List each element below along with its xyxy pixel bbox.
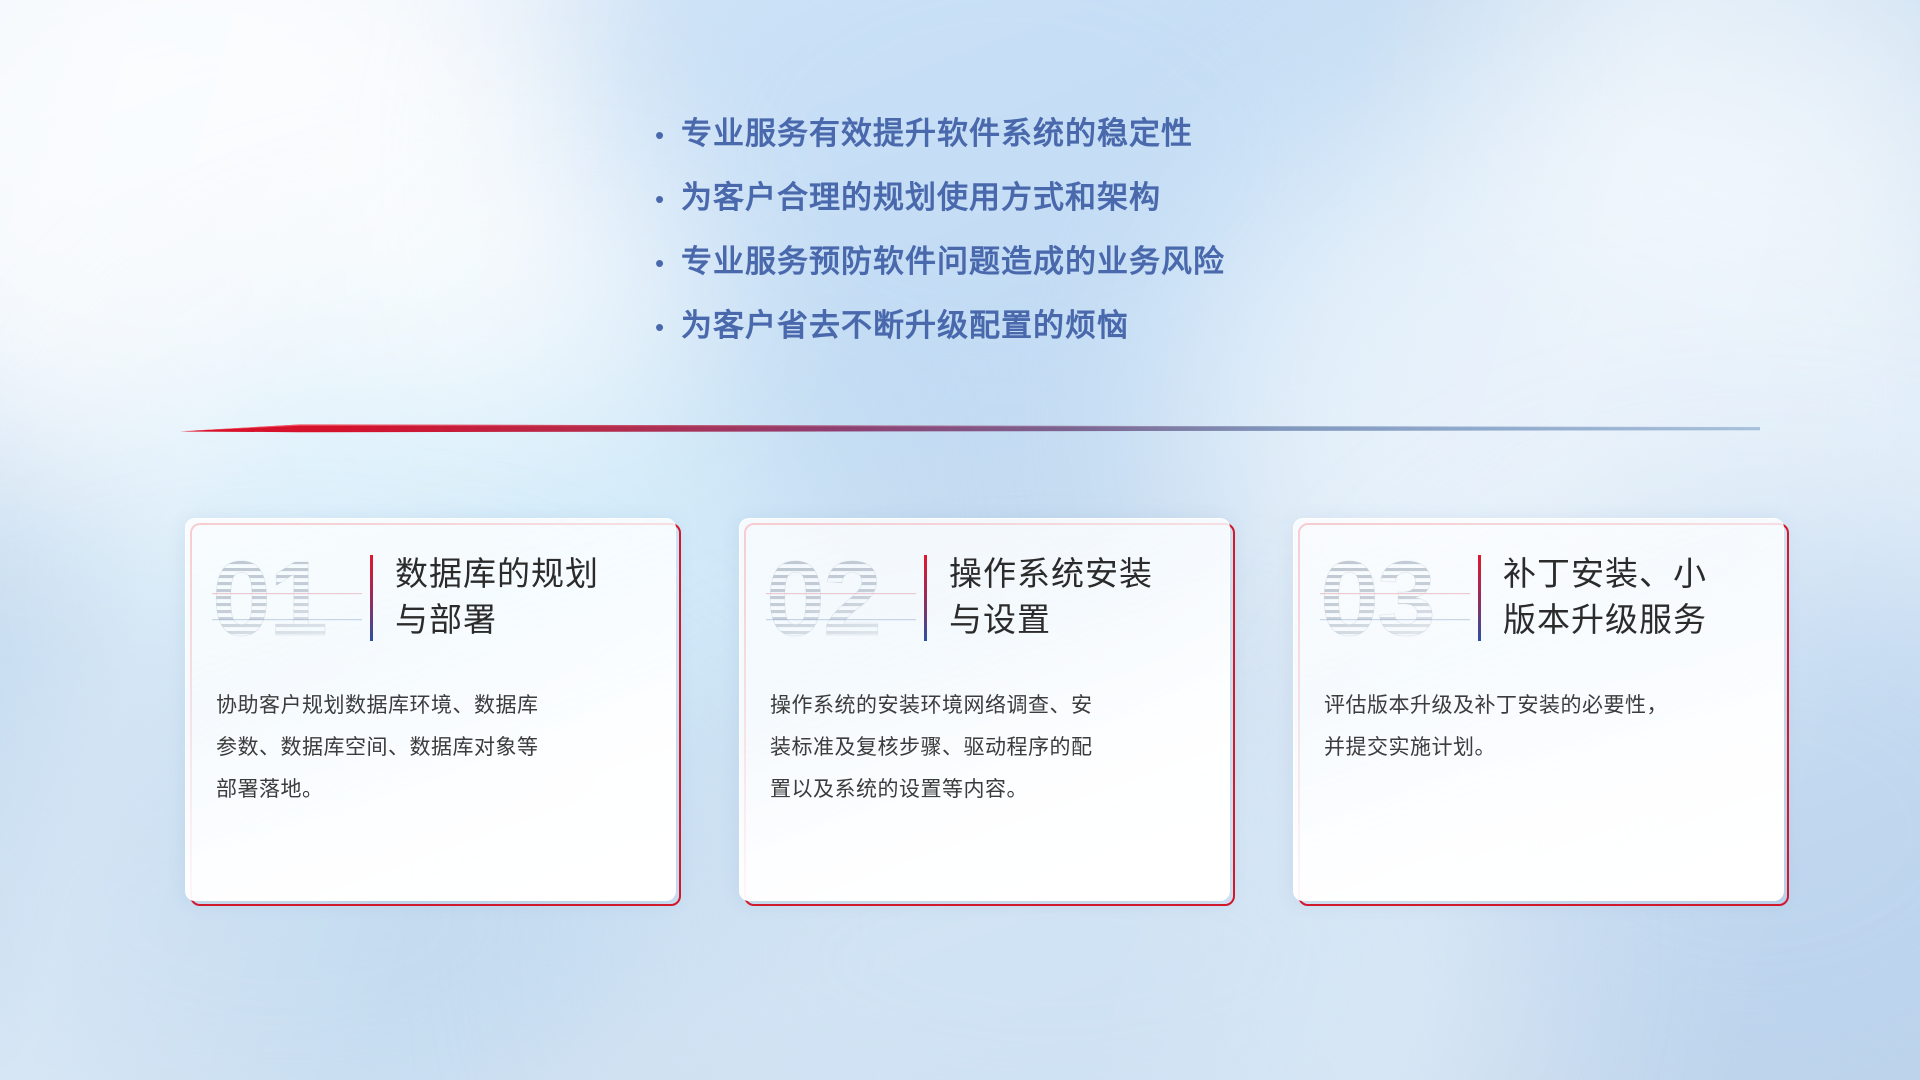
bullet-text: 专业服务预防软件问题造成的业务风险: [681, 236, 1225, 281]
list-item: • 为客户省去不断升级配置的烦恼: [655, 300, 1555, 364]
card-title: 操作系统安装 与设置: [949, 551, 1153, 643]
service-card[interactable]: 02 02 操作系统安装 与设置 操作系统的安装环境网络调查、安 装标准及复核步…: [739, 518, 1230, 901]
card-panel: 02 02 操作系统安装 与设置 操作系统的安装环境网络调查、安 装标准及复核步…: [739, 518, 1230, 901]
bullet-dot-icon: •: [655, 314, 681, 340]
striped-number-icon: 01 01: [212, 547, 362, 657]
card-title: 补丁安装、小 版本升级服务: [1503, 551, 1707, 643]
list-item: • 专业服务预防软件问题造成的业务风险: [655, 236, 1555, 300]
card-row: 01 01 数据库的规划 与部署 协助客户规划数据库环境、数据库 参数、数据库空…: [185, 518, 1785, 901]
svg-text:03: 03: [1320, 547, 1434, 657]
card-title-rule: [370, 555, 373, 641]
bullet-dot-icon: •: [655, 122, 681, 148]
card-body-text: 操作系统的安装环境网络调查、安 装标准及复核步骤、驱动程序的配 置以及系统的设置…: [740, 679, 1229, 811]
bullet-dot-icon: •: [655, 186, 681, 212]
bullet-text: 专业服务有效提升软件系统的稳定性: [681, 108, 1193, 153]
service-card[interactable]: 03 03 补丁安装、小 版本升级服务 评估版本升级及补丁安装的必要性， 并提交…: [1293, 518, 1784, 901]
card-header: 02 02 操作系统安装 与设置: [740, 519, 1229, 679]
card-index-number: 03 03: [1320, 547, 1470, 657]
card-header: 03 03 补丁安装、小 版本升级服务: [1294, 519, 1783, 679]
slide-canvas: • 专业服务有效提升软件系统的稳定性 • 为客户合理的规划使用方式和架构 • 专…: [0, 0, 1920, 1080]
card-title-rule: [924, 555, 927, 641]
list-item: • 专业服务有效提升软件系统的稳定性: [655, 108, 1555, 172]
svg-text:02: 02: [766, 547, 880, 657]
bullet-text: 为客户省去不断升级配置的烦恼: [681, 300, 1129, 345]
card-title: 数据库的规划 与部署: [395, 551, 599, 643]
card-body-text: 评估版本升级及补丁安装的必要性， 并提交实施计划。: [1294, 679, 1783, 769]
bullet-list: • 专业服务有效提升软件系统的稳定性 • 为客户合理的规划使用方式和架构 • 专…: [655, 108, 1555, 364]
svg-text:01: 01: [212, 547, 326, 657]
card-body-text: 协助客户规划数据库环境、数据库 参数、数据库空间、数据库对象等 部署落地。: [186, 679, 675, 811]
bullet-text: 为客户合理的规划使用方式和架构: [681, 172, 1161, 217]
striped-number-icon: 02 02: [766, 547, 916, 657]
card-index-number: 02 02: [766, 547, 916, 657]
card-header: 01 01 数据库的规划 与部署: [186, 519, 675, 679]
card-panel: 03 03 补丁安装、小 版本升级服务 评估版本升级及补丁安装的必要性， 并提交…: [1293, 518, 1784, 901]
card-panel: 01 01 数据库的规划 与部署 协助客户规划数据库环境、数据库 参数、数据库空…: [185, 518, 676, 901]
bullet-dot-icon: •: [655, 250, 681, 276]
card-index-number: 01 01: [212, 547, 362, 657]
list-item: • 为客户合理的规划使用方式和架构: [655, 172, 1555, 236]
service-card[interactable]: 01 01 数据库的规划 与部署 协助客户规划数据库环境、数据库 参数、数据库空…: [185, 518, 676, 901]
striped-number-icon: 03 03: [1320, 547, 1470, 657]
card-title-rule: [1478, 555, 1481, 641]
